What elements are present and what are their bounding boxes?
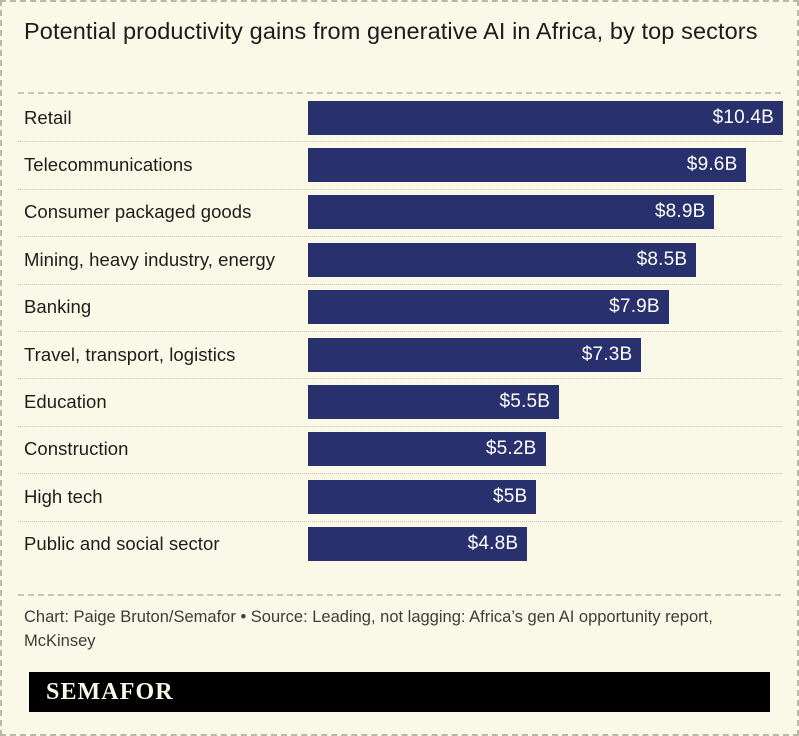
bar-value-label: $5B xyxy=(493,486,527,508)
bar-row: High tech$5B xyxy=(2,473,797,520)
bar-value-label: $5.5B xyxy=(500,391,551,413)
page-title: Potential productivity gains from genera… xyxy=(24,16,775,47)
source-credit: Chart: Paige Bruton/Semafor • Source: Le… xyxy=(24,606,763,654)
bar-category-label: High tech xyxy=(24,486,308,508)
bar-row: Travel, transport, logistics$7.3B xyxy=(2,331,797,378)
bar-fill: $4.8B xyxy=(308,527,527,561)
bar-track: $9.6B xyxy=(308,141,797,188)
bar-row: Consumer packaged goods$8.9B xyxy=(2,189,797,236)
bar-fill: $5.5B xyxy=(308,385,559,419)
bar-row: Telecommunications$9.6B xyxy=(2,141,797,188)
bar-track: $7.9B xyxy=(308,284,797,331)
bar-track: $10.4B xyxy=(308,94,797,141)
bar-fill: $9.6B xyxy=(308,148,746,182)
bar-value-label: $10.4B xyxy=(713,107,774,129)
bar-value-label: $9.6B xyxy=(687,154,738,176)
bar-value-label: $7.9B xyxy=(609,296,660,318)
bar-category-label: Public and social sector xyxy=(24,533,308,555)
bar-row: Construction$5.2B xyxy=(2,426,797,473)
bar-value-label: $5.2B xyxy=(486,438,537,460)
bar-track: $5.2B xyxy=(308,426,797,473)
bar-category-label: Travel, transport, logistics xyxy=(24,344,308,366)
bar-category-label: Education xyxy=(24,391,308,413)
bar-fill: $7.9B xyxy=(308,290,669,324)
bar-track: $5B xyxy=(308,473,797,520)
bar-row: Education$5.5B xyxy=(2,378,797,425)
bar-category-label: Retail xyxy=(24,107,308,129)
bar-category-label: Consumer packaged goods xyxy=(24,201,308,223)
bar-row: Public and social sector$4.8B xyxy=(2,521,797,568)
bar-track: $7.3B xyxy=(308,331,797,378)
bar-value-label: $8.9B xyxy=(655,201,706,223)
bar-value-label: $7.3B xyxy=(582,344,633,366)
bar-fill: $7.3B xyxy=(308,338,641,372)
bar-fill: $5.2B xyxy=(308,432,546,466)
bar-value-label: $4.8B xyxy=(468,533,519,555)
footer-divider xyxy=(18,594,781,596)
bar-value-label: $8.5B xyxy=(637,249,688,271)
bar-track: $8.9B xyxy=(308,189,797,236)
source-block: Chart: Paige Bruton/Semafor • Source: Le… xyxy=(24,606,763,654)
bar-chart-plot: Retail$10.4BTelecommunications$9.6BConsu… xyxy=(2,94,797,594)
semafor-logo-text: SEMAFOR xyxy=(29,679,174,706)
bar-fill: $5B xyxy=(308,480,536,514)
bar-fill: $8.9B xyxy=(308,195,714,229)
chart-card: Potential productivity gains from genera… xyxy=(0,0,799,736)
bar-category-label: Construction xyxy=(24,438,308,460)
bar-category-label: Banking xyxy=(24,296,308,318)
bar-row: Banking$7.9B xyxy=(2,284,797,331)
bar-category-label: Telecommunications xyxy=(24,154,308,176)
bar-row: Retail$10.4B xyxy=(2,94,797,141)
bar-fill: $8.5B xyxy=(308,243,696,277)
bar-track: $5.5B xyxy=(308,378,797,425)
bar-category-label: Mining, heavy industry, energy xyxy=(24,249,308,271)
chart-header: Potential productivity gains from genera… xyxy=(2,2,797,92)
bar-track: $8.5B xyxy=(308,236,797,283)
bar-row: Mining, heavy industry, energy$8.5B xyxy=(2,236,797,283)
bar-track: $4.8B xyxy=(308,521,797,568)
semafor-logo: SEMAFOR xyxy=(29,672,770,712)
bar-fill: $10.4B xyxy=(308,101,783,135)
